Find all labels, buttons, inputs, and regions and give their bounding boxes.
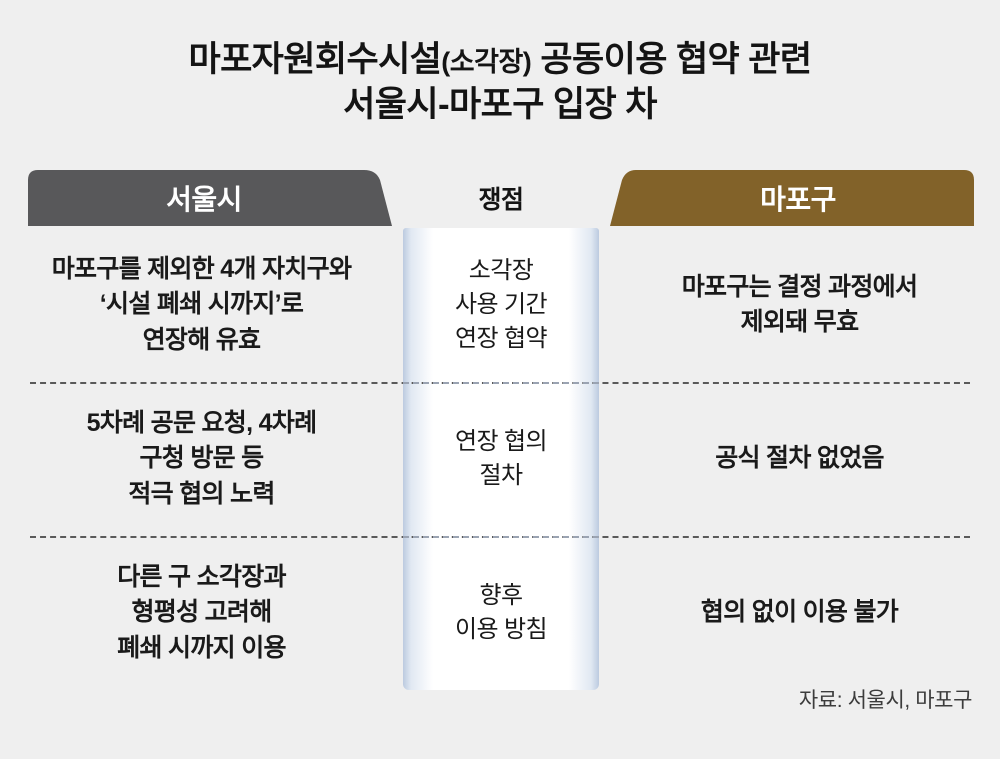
cell-seoul-text: 마포구를 제외한 4개 자치구와 ‘시설 폐쇄 시까지’로 연장해 유효 [52, 252, 352, 359]
cell-seoul-text: 5차례 공문 요청, 4차례 구청 방문 등 적극 협의 노력 [87, 406, 317, 513]
cell-seoul: 다른 구 소각장과 형평성 고려해 폐쇄 시까지 이용 [0, 536, 403, 690]
table-row: 마포구를 제외한 4개 자치구와 ‘시설 폐쇄 시까지’로 연장해 유효 소각장… [0, 228, 1000, 382]
title-paren-text: (소각장) [441, 47, 531, 77]
header-label-mapo: 마포구 [622, 170, 974, 226]
cell-issue: 소각장 사용 기간 연장 협약 [403, 228, 599, 382]
cell-issue: 향후 이용 방침 [403, 536, 599, 690]
page-title: 마포자원회수시설(소각장) 공동이용 협약 관련 서울시-마포구 입장 차 [0, 38, 1000, 128]
header-banner-seoul: 서울시 [28, 170, 398, 226]
cell-seoul-text: 다른 구 소각장과 형평성 고려해 폐쇄 시까지 이용 [117, 560, 286, 667]
cell-mapo-text: 협의 없이 이용 불가 [701, 595, 898, 631]
source-attribution: 자료: 서울시, 마포구 [799, 684, 972, 714]
header-label-seoul: 서울시 [28, 170, 380, 226]
title-line-1: 마포자원회수시설(소각장) 공동이용 협약 관련 [0, 38, 1000, 83]
cell-mapo: 공식 절차 없었음 [599, 382, 1000, 536]
table-row: 다른 구 소각장과 형평성 고려해 폐쇄 시까지 이용 향후 이용 방침 협의 … [0, 536, 1000, 690]
comparison-table: 마포구를 제외한 4개 자치구와 ‘시설 폐쇄 시까지’로 연장해 유효 소각장… [0, 228, 1000, 690]
cell-seoul: 마포구를 제외한 4개 자치구와 ‘시설 폐쇄 시까지’로 연장해 유효 [0, 228, 403, 382]
cell-issue-text: 연장 협의 절차 [455, 425, 547, 493]
cell-issue: 연장 협의 절차 [403, 382, 599, 536]
cell-mapo-text: 마포구는 결정 과정에서 제외돼 무효 [682, 270, 918, 341]
cell-seoul: 5차례 공문 요청, 4차례 구청 방문 등 적극 협의 노력 [0, 382, 403, 536]
cell-issue-text: 소각장 사용 기간 연장 협약 [455, 254, 547, 356]
cell-mapo-text: 공식 절차 없었음 [715, 441, 884, 477]
header-label-issue: 쟁점 [403, 170, 599, 226]
title-main-text: 마포자원회수시설 [188, 40, 441, 79]
cell-issue-text: 향후 이용 방침 [455, 579, 547, 647]
table-row: 5차례 공문 요청, 4차례 구청 방문 등 적극 협의 노력 연장 협의 절차… [0, 382, 1000, 536]
title-line-2: 서울시-마포구 입장 차 [0, 83, 1000, 128]
header-banner-mapo: 마포구 [602, 170, 974, 226]
cell-mapo: 마포구는 결정 과정에서 제외돼 무효 [599, 228, 1000, 382]
title-tail-text: 공동이용 협약 관련 [531, 40, 811, 79]
infographic-root: 마포자원회수시설(소각장) 공동이용 협약 관련 서울시-마포구 입장 차 서울… [0, 0, 1000, 759]
cell-mapo: 협의 없이 이용 불가 [599, 536, 1000, 690]
